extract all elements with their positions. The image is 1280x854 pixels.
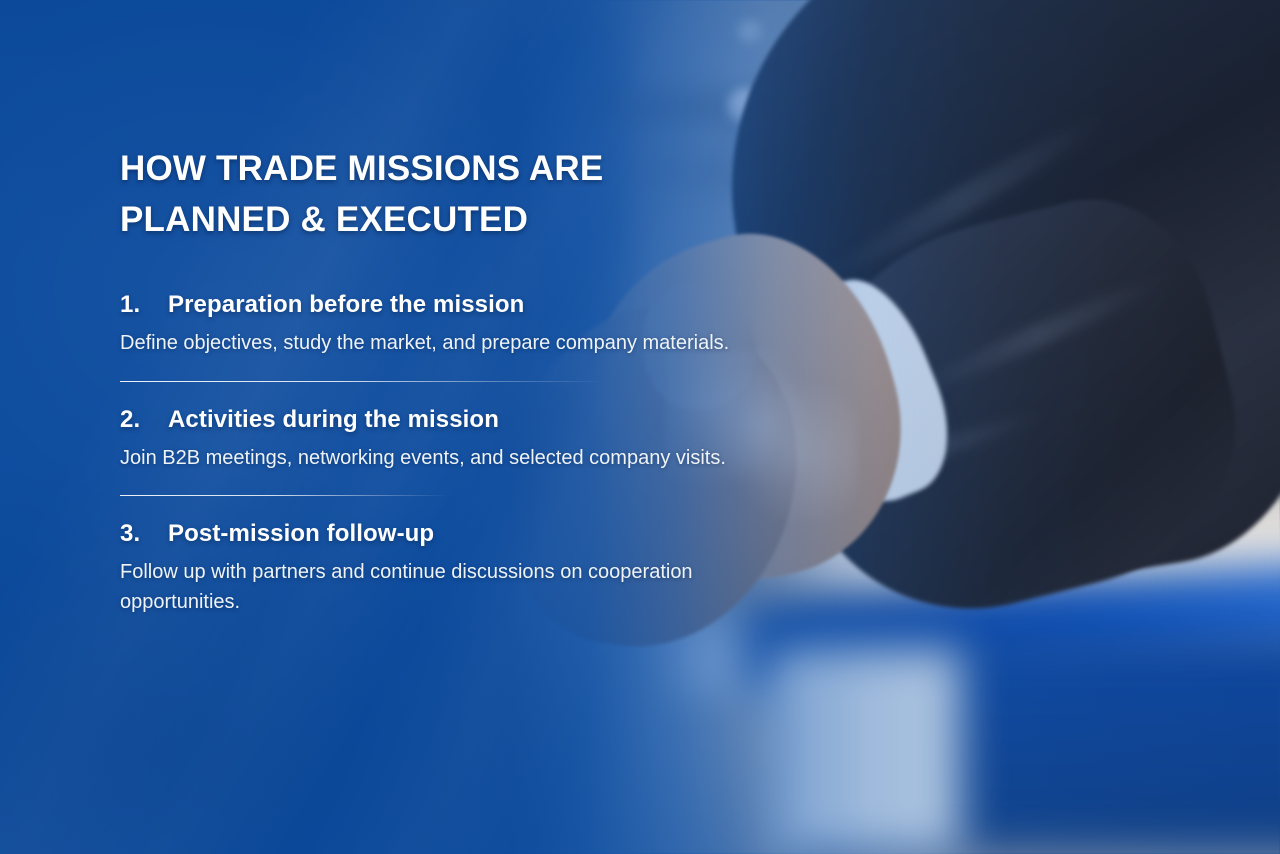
step-heading: 1. Preparation before the mission	[120, 291, 820, 319]
step-number: 1.	[120, 291, 168, 319]
step-divider	[120, 381, 604, 382]
step-heading: 2. Activities during the mission	[120, 406, 820, 434]
poster-canvas: HOW TRADE MISSIONS ARE PLANNED & EXECUTE…	[0, 0, 1280, 854]
step-divider	[120, 495, 450, 496]
step-description: Join B2B meetings, networking events, an…	[120, 443, 760, 473]
list-item: 3. Post-mission follow-up Follow up with…	[120, 520, 820, 618]
step-title: Preparation before the mission	[168, 291, 820, 319]
spacer	[120, 496, 820, 520]
list-item: 1. Preparation before the mission Define…	[120, 291, 820, 381]
spacer	[120, 382, 820, 406]
list-item: 2. Activities during the mission Join B2…	[120, 406, 820, 496]
step-description: Follow up with partners and continue dis…	[120, 557, 760, 618]
step-number: 3.	[120, 520, 168, 548]
steps-list: 1. Preparation before the mission Define…	[120, 291, 820, 618]
page-title: HOW TRADE MISSIONS ARE PLANNED & EXECUTE…	[120, 143, 680, 245]
step-heading: 3. Post-mission follow-up	[120, 520, 820, 548]
step-description: Define objectives, study the market, and…	[120, 328, 760, 358]
content-block: HOW TRADE MISSIONS ARE PLANNED & EXECUTE…	[120, 143, 820, 618]
step-title: Post-mission follow-up	[168, 520, 820, 548]
step-number: 2.	[120, 406, 168, 434]
step-title: Activities during the mission	[168, 406, 820, 434]
